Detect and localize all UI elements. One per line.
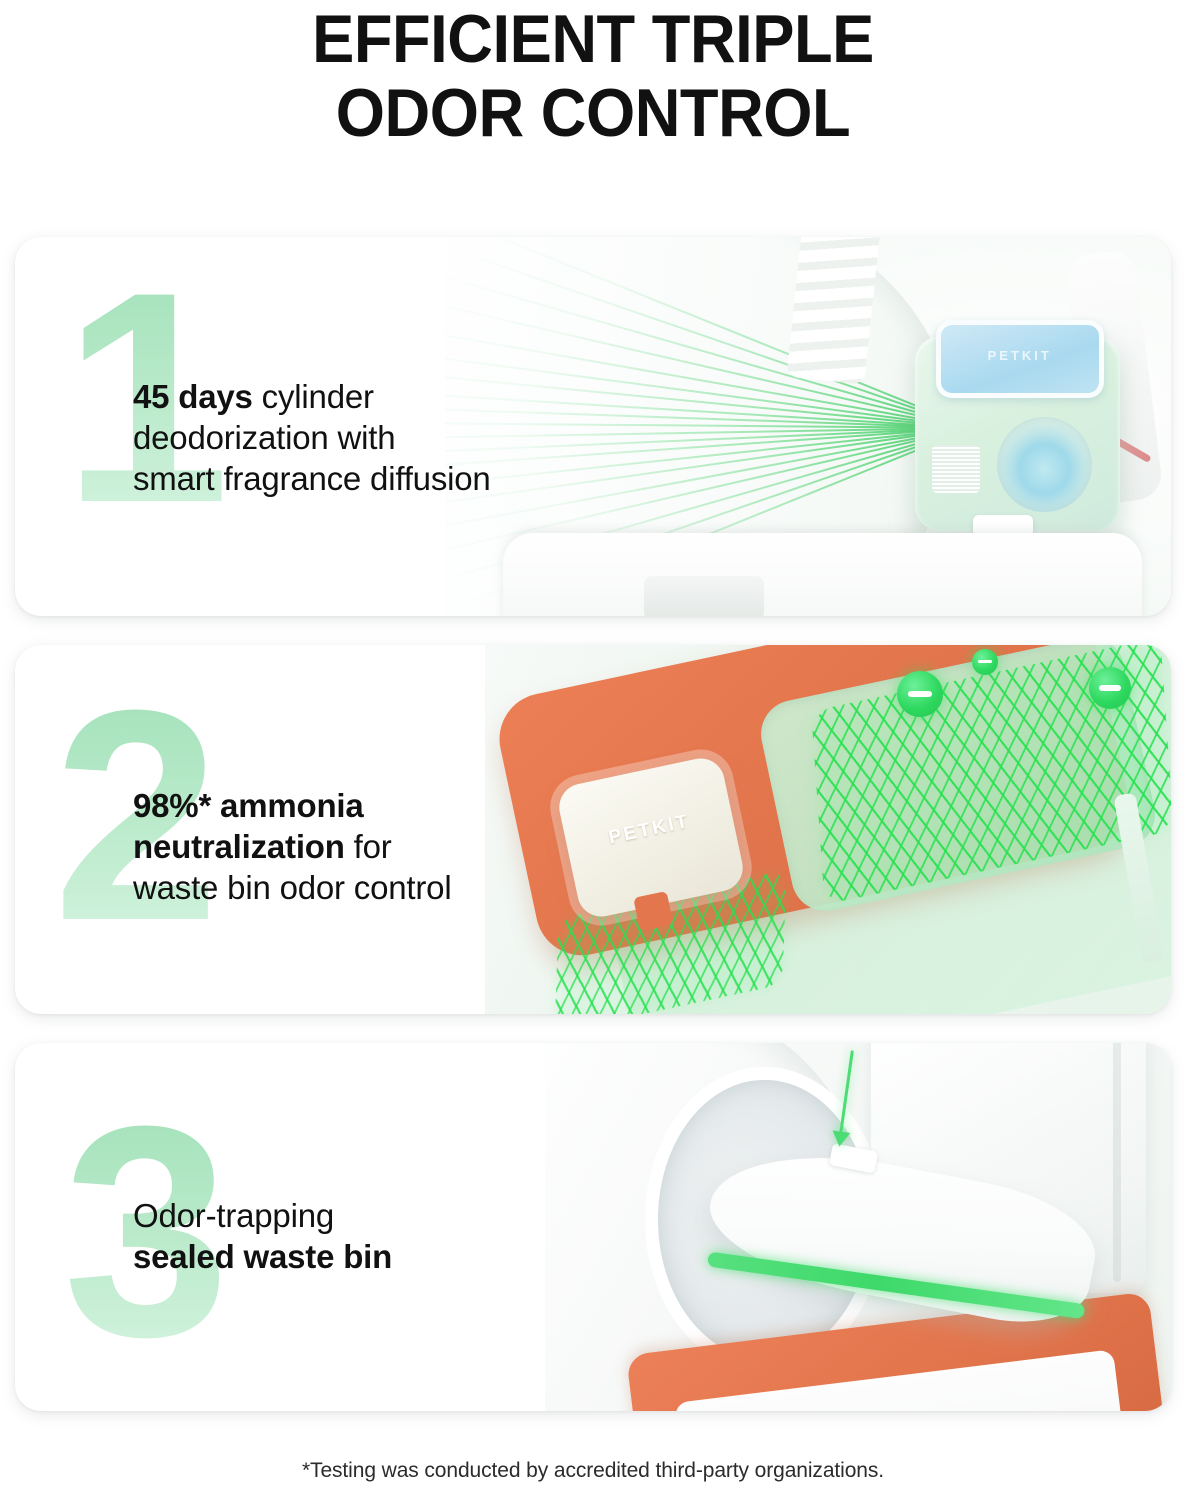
feature-card-3-body: 3 Odor-trapping sealed waste bin [15,1043,655,1411]
feature-1-line1-rest: cylinder [253,378,374,415]
feature-card-2-text: 98%* ammonia neutralization for waste bi… [133,785,451,908]
feature-2-line2-rest: for [345,828,392,865]
minus-badge-icon-3 [1089,667,1131,709]
feature-3-highlight-line2: sealed waste bin [133,1238,392,1275]
feature-2-highlight-line2: neutralization [133,828,345,865]
cartridge-brand-label: PETKIT [941,348,1099,363]
infographic-page: EFFICIENT TRIPLE ODOR CONTROL [0,0,1186,1500]
feature-card-3-text: Odor-trapping sealed waste bin [133,1195,392,1277]
cartridge-cap: PETKIT [936,320,1104,398]
page-title-line-1: EFFICIENT TRIPLE [42,2,1145,76]
feature-card-1-text: 45 days cylinder deodorization with smar… [133,376,491,499]
feature-1-line3: smart fragrance diffusion [133,458,491,499]
base-slot [644,576,764,616]
panel-edge [1113,1043,1121,1282]
feature-1-line2: deodorization with [133,417,491,458]
feature-3-line1: Odor-trapping [133,1195,392,1236]
feature-card-3: 3 Odor-trapping sealed waste bin [15,1043,1171,1411]
orange-bin-inner [674,1349,1134,1411]
footnote-disclaimer: *Testing was conducted by accredited thi… [0,1459,1186,1483]
page-title: EFFICIENT TRIPLE ODOR CONTROL [0,0,1186,150]
feature-card-2-body: 2 98%* ammonia neutralization for waste … [15,645,655,1014]
cartridge-fan [997,417,1092,512]
feature-2-line3: waste bin odor control [133,867,451,908]
feature-1-highlight: 45 days [133,378,253,415]
fragrance-cartridge: PETKIT [915,336,1120,531]
page-title-line-2: ODOR CONTROL [42,76,1145,150]
feature-card-1-body: 1 45 days cylinder deodorization with sm… [15,237,655,616]
feature-2-highlight-line1: 98%* ammonia [133,787,364,824]
minus-badge-icon-2 [972,649,998,675]
feature-card-2: PETKIT 2 98%* ammonia neutralization for… [15,645,1171,1014]
minus-badge-icon-1 [897,671,943,717]
feature-card-1: PETKIT 1 45 days cylinder deodorization … [15,237,1171,616]
cartridge-vent-grille [932,445,980,493]
